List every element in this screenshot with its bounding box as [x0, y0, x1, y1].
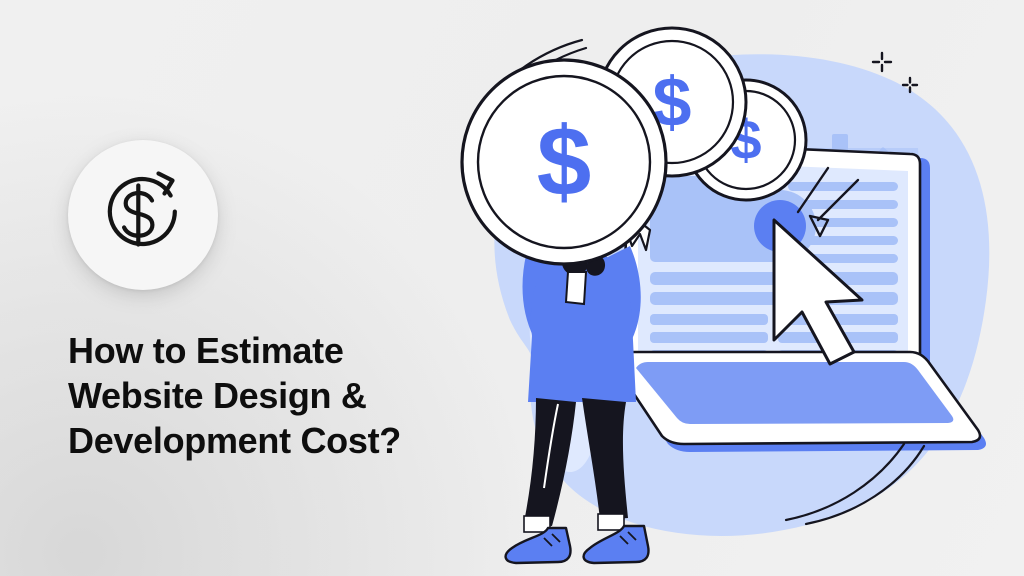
- hero-banner: How to Estimate Website Design & Develop…: [0, 0, 1024, 576]
- brand-logo-badge: [68, 140, 218, 290]
- svg-text:$: $: [537, 106, 592, 216]
- coin-large: $: [462, 60, 666, 264]
- shoe-right: [584, 526, 649, 563]
- shoe-left: [506, 528, 571, 563]
- hero-left-column: How to Estimate Website Design & Develop…: [68, 140, 468, 290]
- hero-illustration: $ $ $: [440, 20, 1024, 576]
- page-title: How to Estimate Website Design & Develop…: [68, 328, 468, 463]
- dollar-refresh-circle-icon: [84, 156, 202, 274]
